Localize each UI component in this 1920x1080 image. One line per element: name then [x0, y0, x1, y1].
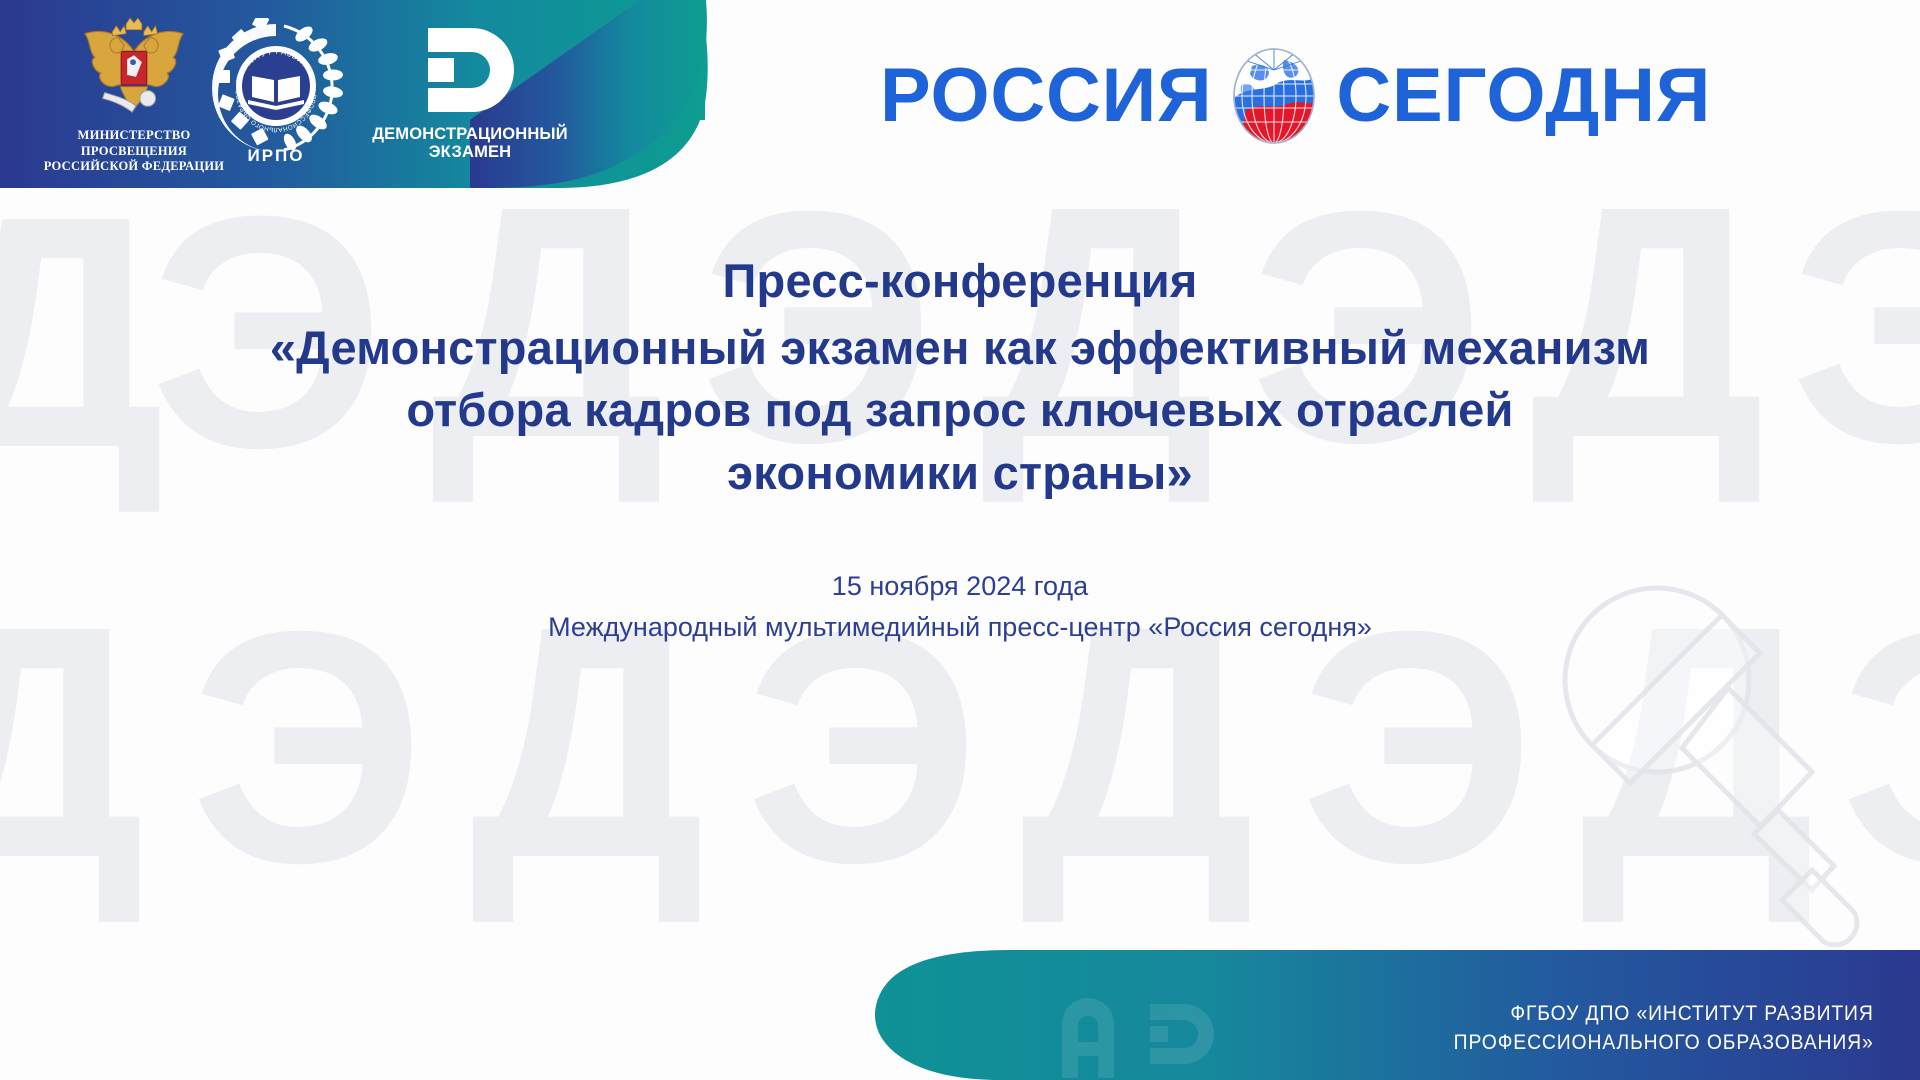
de-caption-line1: ДЕМОНСТРАЦИОННЫЙ: [372, 125, 568, 143]
watermark-glyph: Д: [0, 610, 139, 874]
irpo-ring-text-bottom: ПРОФЕССИОНАЛЬНОГО ОБРАЗОВАНИЯ: [212, 18, 317, 133]
watermark-glyph: Э: [1840, 615, 1920, 879]
watermark-glyph: Д: [1020, 610, 1249, 874]
watermark-glyph: Э: [1300, 615, 1528, 879]
irpo-ring-text-top: ИНСТИТУТ РАЗВИТИЯ: [234, 47, 317, 84]
title-line-4: экономики страны»: [160, 442, 1760, 505]
footer-line-1: ФГБОУ ДПО «ИНСТИТУТ РАЗВИТИЯ: [1454, 999, 1874, 1027]
rossiya-segodnya-logo: РОССИЯ: [880, 40, 1711, 152]
ministry-caption-line2: РОССИЙСКОЙ ФЕДЕРАЦИИ: [44, 159, 225, 173]
demonstration-exam-logo: ДЕМОНСТРАЦИОННЫЙ ЭКЗАМЕН: [370, 22, 570, 162]
header-background-shape: [0, 0, 1920, 218]
slide-header: МИНИСТЕРСТВО ПРОСВЕЩЕНИЯ РОССИЙСКОЙ ФЕДЕ…: [0, 0, 1920, 218]
event-meta: 15 ноября 2024 года Международный мульти…: [0, 566, 1920, 647]
de-caption-line2: ЭКЗАМЕН: [429, 143, 512, 161]
rs-word-right: СЕГОДНЯ: [1336, 58, 1711, 134]
slide-content: Пресс-конференция «Демонстрационный экза…: [0, 250, 1920, 647]
svg-text:ПРОФЕССИОНАЛЬНОГО ОБРАЗОВАНИЯ: ПРОФЕССИОНАЛЬНОГО ОБРАЗОВАНИЯ: [212, 18, 317, 133]
footer-organization-name: ФГБОУ ДПО «ИНСТИТУТ РАЗВИТИЯ ПРОФЕССИОНА…: [1454, 999, 1874, 1056]
svg-text:ИНСТИТУТ РАЗВИТИЯ: ИНСТИТУТ РАЗВИТИЯ: [234, 47, 317, 84]
title-line-2: «Демонстрационный экзамен как эффективны…: [160, 317, 1760, 380]
presentation-slide: Д Э Д Э Д Э Д Э Д Э Д Э Д Э Д Э: [0, 0, 1920, 1080]
event-date: 15 ноября 2024 года: [0, 566, 1920, 607]
watermark-glyph: Д: [470, 610, 699, 874]
ministry-logo: МИНИСТЕРСТВО ПРОСВЕЩЕНИЯ РОССИЙСКОЙ ФЕДЕ…: [34, 18, 234, 175]
watermark-glyph: Э: [745, 615, 973, 879]
demonstration-exam-mark-icon: [422, 22, 518, 118]
watermark-glyph: Д: [1580, 610, 1809, 874]
ministry-caption-line1: МИНИСТЕРСТВО ПРОСВЕЩЕНИЯ: [78, 128, 191, 158]
globe-icon: [1218, 40, 1330, 152]
footer-line-2: ПРОФЕССИОНАЛЬНОГО ОБРАЗОВАНИЯ»: [1454, 1028, 1874, 1056]
title-line-1: Пресс-конференция: [160, 250, 1760, 313]
irpo-abbreviation: ИРПО: [248, 146, 305, 165]
conference-title: Пресс-конференция «Демонстрационный экза…: [0, 250, 1920, 504]
footer-background-shape: [0, 950, 1920, 1080]
demonstration-exam-caption: ДЕМОНСТРАЦИОННЫЙ ЭКЗАМЕН: [370, 125, 570, 162]
irpo-emblem-icon: ИНСТИТУТ РАЗВИТИЯ ПРОФЕССИОНАЛЬНОГО ОБРА…: [212, 18, 352, 168]
ministry-logo-caption: МИНИСТЕРСТВО ПРОСВЕЩЕНИЯ РОССИЙСКОЙ ФЕДЕ…: [34, 128, 234, 175]
russian-coat-of-arms-icon: [75, 18, 193, 122]
title-line-3: отбора кадров под запрос ключевых отрасл…: [160, 379, 1760, 442]
watermark-glyph: Э: [190, 615, 418, 879]
rs-word-left: РОССИЯ: [880, 58, 1212, 134]
irpo-logo: ИНСТИТУТ РАЗВИТИЯ ПРОФЕССИОНАЛЬНОГО ОБРА…: [212, 18, 352, 168]
slide-footer: ФГБОУ ДПО «ИНСТИТУТ РАЗВИТИЯ ПРОФЕССИОНА…: [0, 950, 1920, 1080]
event-venue: Международный мультимедийный пресс-центр…: [0, 607, 1920, 648]
